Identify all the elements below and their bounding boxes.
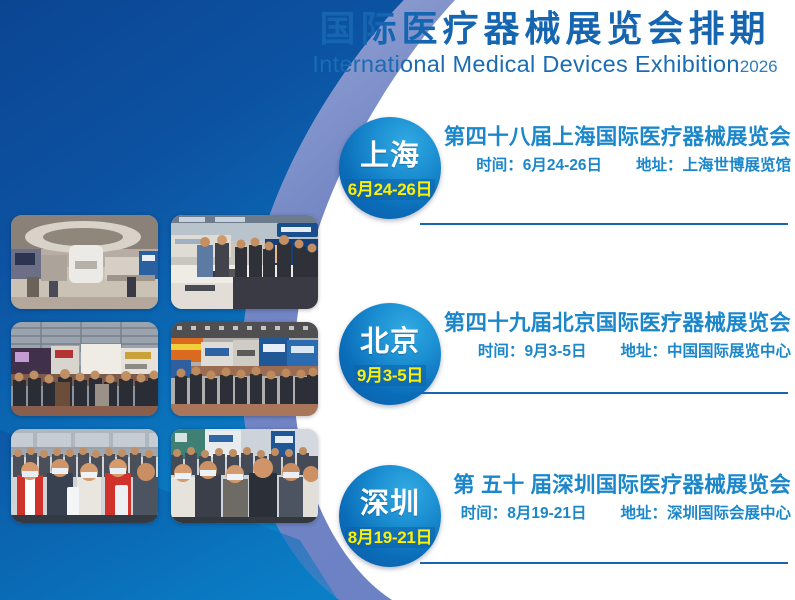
city-badge-date: 6月24-26日 (345, 179, 436, 200)
event-meta: 时间：6月24-26日 地址：上海世博展览馆 (425, 157, 791, 175)
event-venue: 地址：深圳国际会展中心 (620, 505, 791, 523)
event-title: 第四十九届北京国际医疗器械展览会 (425, 311, 791, 336)
event-venue-value: 中国国际展览中心 (667, 343, 791, 360)
poster-canvas: 国际医疗器械展览会排期 International Medical Device… (0, 0, 795, 600)
event-time: 时间：9月3-5日 (478, 343, 587, 361)
event-details-beijing: 第四十九届北京国际医疗器械展览会 时间：9月3-5日 地址：中国国际展览中心 (425, 311, 791, 361)
event-time: 时间：6月24-26日 (476, 157, 602, 175)
city-badge-name: 深圳 (360, 490, 420, 519)
event-meta: 时间：8月19-21日 地址：深圳国际会展中心 (425, 505, 791, 523)
row-divider-shanghai (420, 223, 788, 225)
exhibition-schedule-list: 上海 6月24-26日 第四十八届上海国际医疗器械展览会 时间：6月24-26日… (0, 0, 795, 600)
event-venue: 地址：中国国际展览中心 (620, 343, 791, 361)
row-divider-shenzhen (420, 562, 788, 564)
event-title: 第 五十 届深圳国际医疗器械展览会 (425, 473, 791, 498)
event-time-label: 时间： (476, 157, 523, 174)
event-time-label: 时间： (478, 343, 525, 360)
event-meta: 时间：9月3-5日 地址：中国国际展览中心 (425, 343, 791, 361)
row-divider-beijing (420, 392, 788, 394)
event-time-value: 8月19-21日 (507, 505, 586, 522)
city-badge-name: 北京 (360, 328, 420, 357)
city-badge-name: 上海 (360, 142, 420, 171)
event-details-shanghai: 第四十八届上海国际医疗器械展览会 时间：6月24-26日 地址：上海世博展览馆 (425, 125, 791, 175)
event-time-value: 6月24-26日 (523, 157, 602, 174)
event-details-shenzhen: 第 五十 届深圳国际医疗器械展览会 时间：8月19-21日 地址：深圳国际会展中… (425, 473, 791, 523)
event-venue-label: 地址： (636, 157, 683, 174)
city-badge-date: 8月19-21日 (345, 527, 436, 548)
event-time-label: 时间： (461, 505, 508, 522)
city-badge-date: 9月3-5日 (354, 365, 426, 386)
event-venue: 地址：上海世博展览馆 (636, 157, 791, 175)
event-venue-value: 上海世博展览馆 (682, 157, 791, 174)
event-time-value: 9月3-5日 (524, 343, 586, 360)
event-venue-label: 地址： (620, 505, 667, 522)
event-venue-label: 地址： (620, 343, 667, 360)
event-title: 第四十八届上海国际医疗器械展览会 (425, 125, 791, 150)
event-time: 时间：8月19-21日 (461, 505, 587, 523)
event-venue-value: 深圳国际会展中心 (667, 505, 791, 522)
